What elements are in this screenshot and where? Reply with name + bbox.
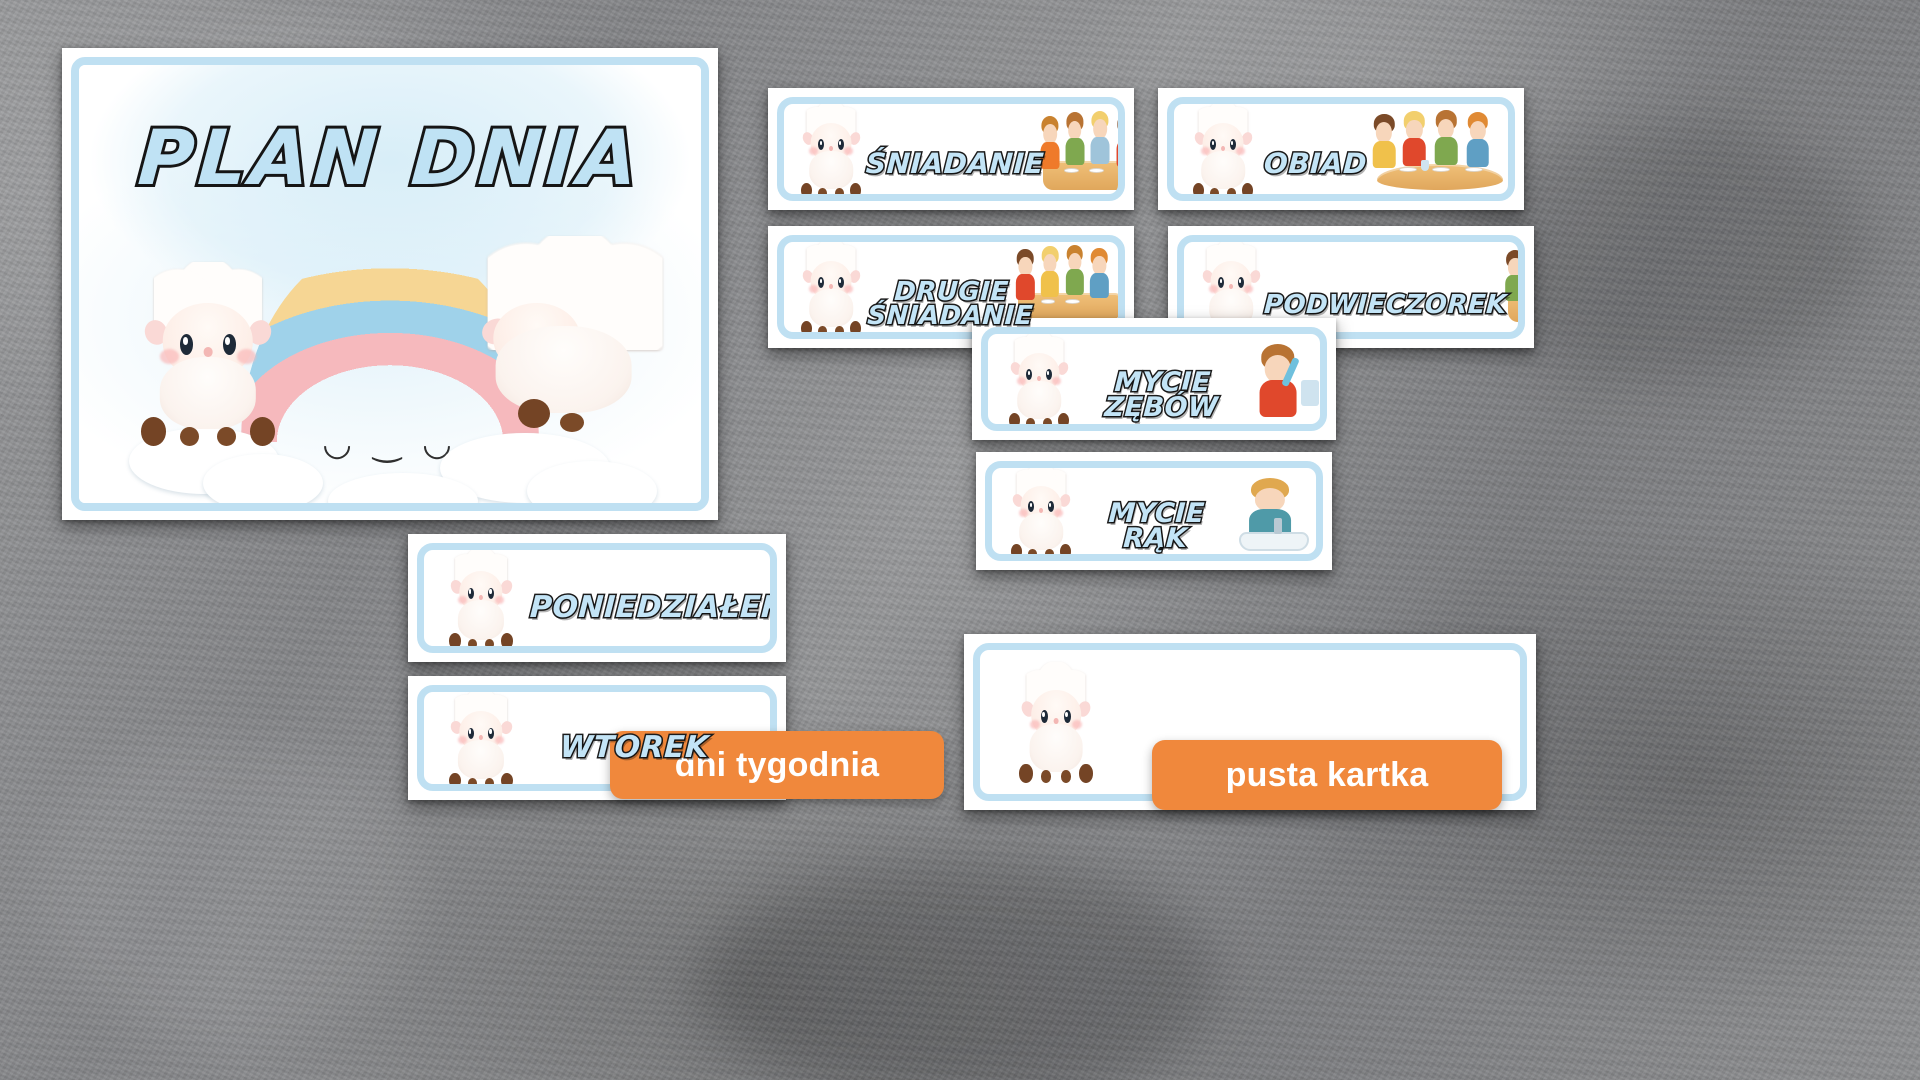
sheep-eye [180, 334, 193, 355]
sheep-cheek [237, 349, 256, 364]
card-label: WTOREK [559, 734, 709, 762]
sheep-mascot-left [135, 258, 281, 448]
sheep-hoof [1045, 549, 1054, 559]
card-inner-frame: ŚNIADANIE [777, 97, 1125, 201]
sheep-hoof [1041, 770, 1051, 782]
plate-graphic [1065, 299, 1080, 304]
dinner-scene-icon [1371, 107, 1509, 193]
card-label: ŚNIADANIE [865, 151, 1044, 177]
sheep-hoof [1079, 764, 1093, 783]
sheep-body [1201, 151, 1245, 189]
sheep-hoof [818, 188, 827, 198]
sheep-mascot [446, 687, 516, 789]
sheep-eye [838, 277, 844, 288]
sheep-hoof [1058, 413, 1069, 428]
sheep-eye [1046, 369, 1052, 380]
card-label: PONIEDZIAŁEK [529, 594, 777, 622]
breakfast-scene-icon [1038, 109, 1125, 193]
sheep-mascot [1190, 99, 1256, 199]
plan-dnia-poster[interactable]: PLAN DNIA ◡ ‿ ◡ [62, 48, 718, 520]
sheep-mascot [798, 99, 864, 199]
sheep-hoof [1242, 183, 1253, 198]
sheep-hoof [449, 633, 461, 649]
sink-graphic [1239, 532, 1310, 551]
washing-hands-scene-icon [1232, 467, 1316, 555]
sheep-hoof [1227, 188, 1236, 198]
sheep-hoof [1011, 544, 1022, 559]
child-figure [1064, 112, 1086, 164]
poster-inner-frame: PLAN DNIA ◡ ‿ ◡ [71, 57, 709, 511]
sheep-body [1030, 724, 1083, 771]
sheep-eye [468, 588, 474, 599]
child-shirt [1435, 137, 1458, 165]
sheep-hoof [1009, 413, 1020, 428]
sheep-mascot [798, 237, 864, 337]
sheep-cheek [160, 349, 179, 364]
sheep-body [458, 600, 504, 640]
sheep-hoof [818, 326, 827, 336]
child-figure [1064, 245, 1085, 295]
wall-texture-blotch [700, 860, 1220, 1080]
sheep-hoof [501, 633, 513, 649]
plate-graphic [1041, 299, 1056, 304]
sheep-hoof [468, 778, 477, 788]
sheep-eye [1238, 277, 1244, 288]
sheep-cheek [495, 736, 504, 744]
sheep-body [1017, 381, 1061, 419]
card-label: DRUGIE ŚNIADANIE [867, 280, 1035, 329]
sheep-eye [838, 139, 844, 150]
child-figure [1256, 344, 1299, 416]
sheep-hoof [1210, 188, 1219, 198]
sheep-body [495, 326, 632, 412]
sheep-hoof [835, 326, 844, 336]
schedule-card-sniadanie[interactable]: ŚNIADANIE [768, 88, 1134, 210]
cup-icon [1301, 380, 1319, 406]
weekday-card-poniedzialek[interactable]: PONIEDZIAŁEK [408, 534, 786, 662]
sheep-mascot [1008, 462, 1074, 560]
sheep-hoof [1026, 418, 1035, 428]
schedule-card-mycie-rak[interactable]: MYCIE RĄK [976, 452, 1332, 570]
child-shirt [1373, 141, 1396, 169]
sheep-hoof [1019, 764, 1033, 783]
badge-label: pusta kartka [1226, 756, 1429, 795]
sheep-hoof [485, 778, 494, 788]
sheep-hoof [850, 183, 861, 198]
sheep-hoof [250, 417, 275, 446]
sheep-eye [468, 728, 474, 739]
sheep-hoof [1193, 183, 1204, 198]
sheep-eye [1041, 710, 1048, 724]
child-shirt [1506, 275, 1525, 301]
badge-pusta-kartka[interactable]: pusta kartka [1152, 740, 1502, 810]
sheep-eye [223, 334, 236, 355]
card-inner-frame: OBIAD [1167, 97, 1515, 201]
schedule-card-obiad[interactable]: OBIAD [1158, 88, 1524, 210]
sheep-body [1019, 513, 1063, 550]
child-figure [1089, 248, 1110, 298]
sheep-eye [1230, 139, 1236, 150]
wall-texture-blotch [40, 740, 420, 1040]
child-shirt [1090, 273, 1108, 299]
sheep-eye [1048, 501, 1054, 512]
child-face [1255, 488, 1285, 512]
child-figure [1433, 110, 1459, 163]
sheep-hoof [850, 321, 861, 336]
plate-graphic [1089, 168, 1104, 173]
child-shirt [1066, 269, 1084, 295]
sheep-hoof [1060, 544, 1071, 559]
sheep-hoof [468, 639, 477, 649]
sheep-hoof [180, 427, 199, 446]
child-face [1119, 122, 1125, 142]
child-hair [1117, 114, 1125, 133]
card-label: PODWIECZOREK [1263, 293, 1507, 317]
rainbow-smile-face: ◡ ‿ ◡ [322, 424, 459, 464]
child-figure [1465, 112, 1491, 165]
sheep-hoof [1043, 418, 1052, 428]
child-figure [1039, 246, 1060, 296]
child-shirt [1259, 380, 1296, 418]
child-shirt [1091, 137, 1110, 164]
cloud-graphic [203, 454, 323, 511]
sheep-hoof [1061, 770, 1071, 782]
sheep-hoof [801, 321, 812, 336]
sheep-nose [204, 347, 213, 357]
sheep-cheek [495, 596, 504, 604]
sheep-hoof [835, 188, 844, 198]
child-figure [1115, 114, 1125, 166]
cup-graphic [1421, 160, 1429, 170]
schedule-card-mycie-zebow[interactable]: MYCIE ZĘBÓW [972, 318, 1336, 440]
card-label: MYCIE RĄK [1077, 501, 1236, 552]
card-label: OBIAD [1263, 151, 1367, 177]
child-figure [1089, 111, 1111, 163]
sheep-mascot [1016, 660, 1096, 784]
page-title: PLAN DNIA [76, 113, 704, 202]
plate-graphic [1064, 168, 1079, 173]
sheep-mascot [446, 546, 516, 650]
sheep-hoof [801, 183, 812, 198]
sheep-hoof [485, 639, 494, 649]
sheep-hoof [1028, 549, 1037, 559]
sheep-mascot-right [480, 240, 670, 436]
sheep-mascot [1006, 329, 1072, 429]
sheep-hoof [518, 399, 550, 428]
sheep-body [160, 357, 256, 429]
faucet-graphic [1274, 518, 1282, 534]
card-inner-frame: PONIEDZIAŁEK [417, 543, 777, 653]
card-label: MYCIE ZĘBÓW [1073, 370, 1252, 421]
card-inner-frame: MYCIE ZĘBÓW [981, 327, 1327, 431]
brushing-teeth-scene-icon [1246, 337, 1320, 421]
card-inner-frame: MYCIE RĄK [985, 461, 1323, 561]
sheep-body [809, 289, 853, 327]
sheep-hoof [141, 417, 166, 446]
child-shirt [1116, 140, 1125, 167]
cup-graphic [1124, 161, 1125, 171]
sheep-body [809, 151, 853, 189]
sheep-hoof [560, 413, 585, 433]
sheep-hoof [449, 773, 461, 788]
child-shirt [1467, 139, 1490, 167]
sheep-hoof [217, 427, 236, 446]
child-figure [1401, 111, 1427, 164]
sheep-cheek [1072, 720, 1082, 730]
sheep-hoof [501, 773, 513, 788]
sheep-body [458, 740, 504, 779]
child-shirt [1041, 271, 1059, 297]
child-shirt [1065, 138, 1084, 165]
child-figure [1371, 114, 1397, 167]
